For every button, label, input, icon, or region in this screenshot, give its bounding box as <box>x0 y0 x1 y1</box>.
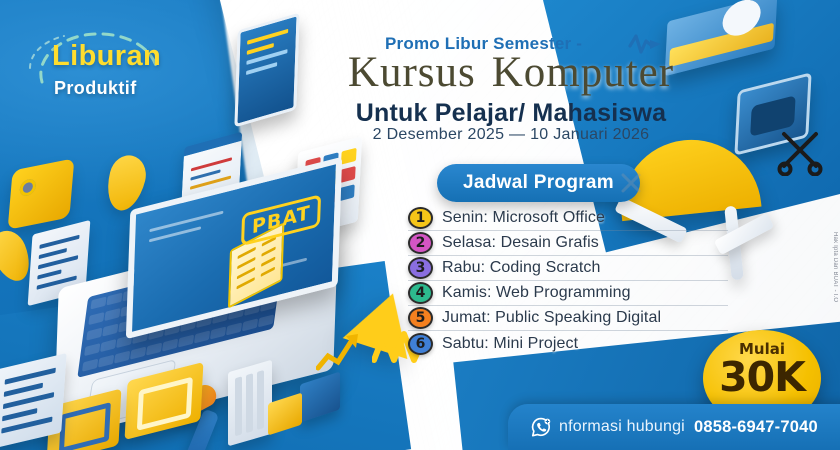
schedule-number-badge: 2 <box>408 232 433 254</box>
schedule-row: 3Rabu: Coding Scratch <box>408 256 728 281</box>
schedule-item-label: Jumat: Public Speaking Digital <box>442 309 661 327</box>
close-icon <box>620 172 642 194</box>
badge-line-2: Produktif <box>54 78 137 99</box>
page-title: KursusKomputer <box>296 48 726 97</box>
schedule-item-label: Kamis: Web Programming <box>442 284 631 302</box>
title-word-1: Kursus <box>348 49 476 96</box>
schedule-item-label: Senin: Microsoft Office <box>442 209 605 227</box>
contact-label: nformasi hubungi <box>559 418 685 436</box>
date-range: 2 Desember 2025 — 10 Januari 2026 <box>296 126 726 144</box>
schedule-number-badge: 1 <box>408 207 433 229</box>
pen-holder-illustration <box>228 360 272 447</box>
scissors-icon <box>776 128 824 176</box>
schedule-item-label: Rabu: Coding Scratch <box>442 259 601 277</box>
contact-bar[interactable]: nformasi hubungi 0858-6947-7040 <box>508 404 840 450</box>
schedule-item-label: Sabtu: Mini Project <box>442 335 578 353</box>
schedule-item-label: Selasa: Desain Grafis <box>442 234 599 252</box>
schedule-row: 1Senin: Microsoft Office <box>408 206 728 231</box>
schedule-number-badge: 6 <box>408 333 433 355</box>
contact-phone[interactable]: 0858-6947-7040 <box>694 418 818 437</box>
schedule-row: 5Jumat: Public Speaking Digital <box>408 306 728 331</box>
schedule-number-badge: 5 <box>408 307 433 329</box>
price-amount: 30K <box>703 353 821 401</box>
schedule-row: 2Selasa: Desain Grafis <box>408 231 728 256</box>
growth-arrow-icon <box>316 326 362 372</box>
promo-banner: PBAT Liburan Produktif <box>0 0 840 450</box>
tablet-illustration <box>234 13 299 128</box>
vertical-watermark: Hak Ipta Dari BUAT - I.O <box>832 232 838 302</box>
schedule-number-badge: 4 <box>408 282 433 304</box>
liburan-produktif-badge: Liburan Produktif <box>22 22 202 114</box>
schedule-number-badge: 3 <box>408 257 433 279</box>
title-word-2: Komputer <box>492 49 674 96</box>
page-subtitle: Untuk Pelajar/ Mahasiswa <box>296 99 726 128</box>
schedule-row: 4Kamis: Web Programming <box>408 281 728 306</box>
badge-line-1: Liburan <box>52 40 161 73</box>
schedule-list: 1Senin: Microsoft Office2Selasa: Desain … <box>408 206 728 356</box>
whatsapp-icon <box>530 416 552 438</box>
jadwal-program-label: Jadwal Program <box>437 164 640 202</box>
schedule-row: 6Sabtu: Mini Project <box>408 331 728 356</box>
